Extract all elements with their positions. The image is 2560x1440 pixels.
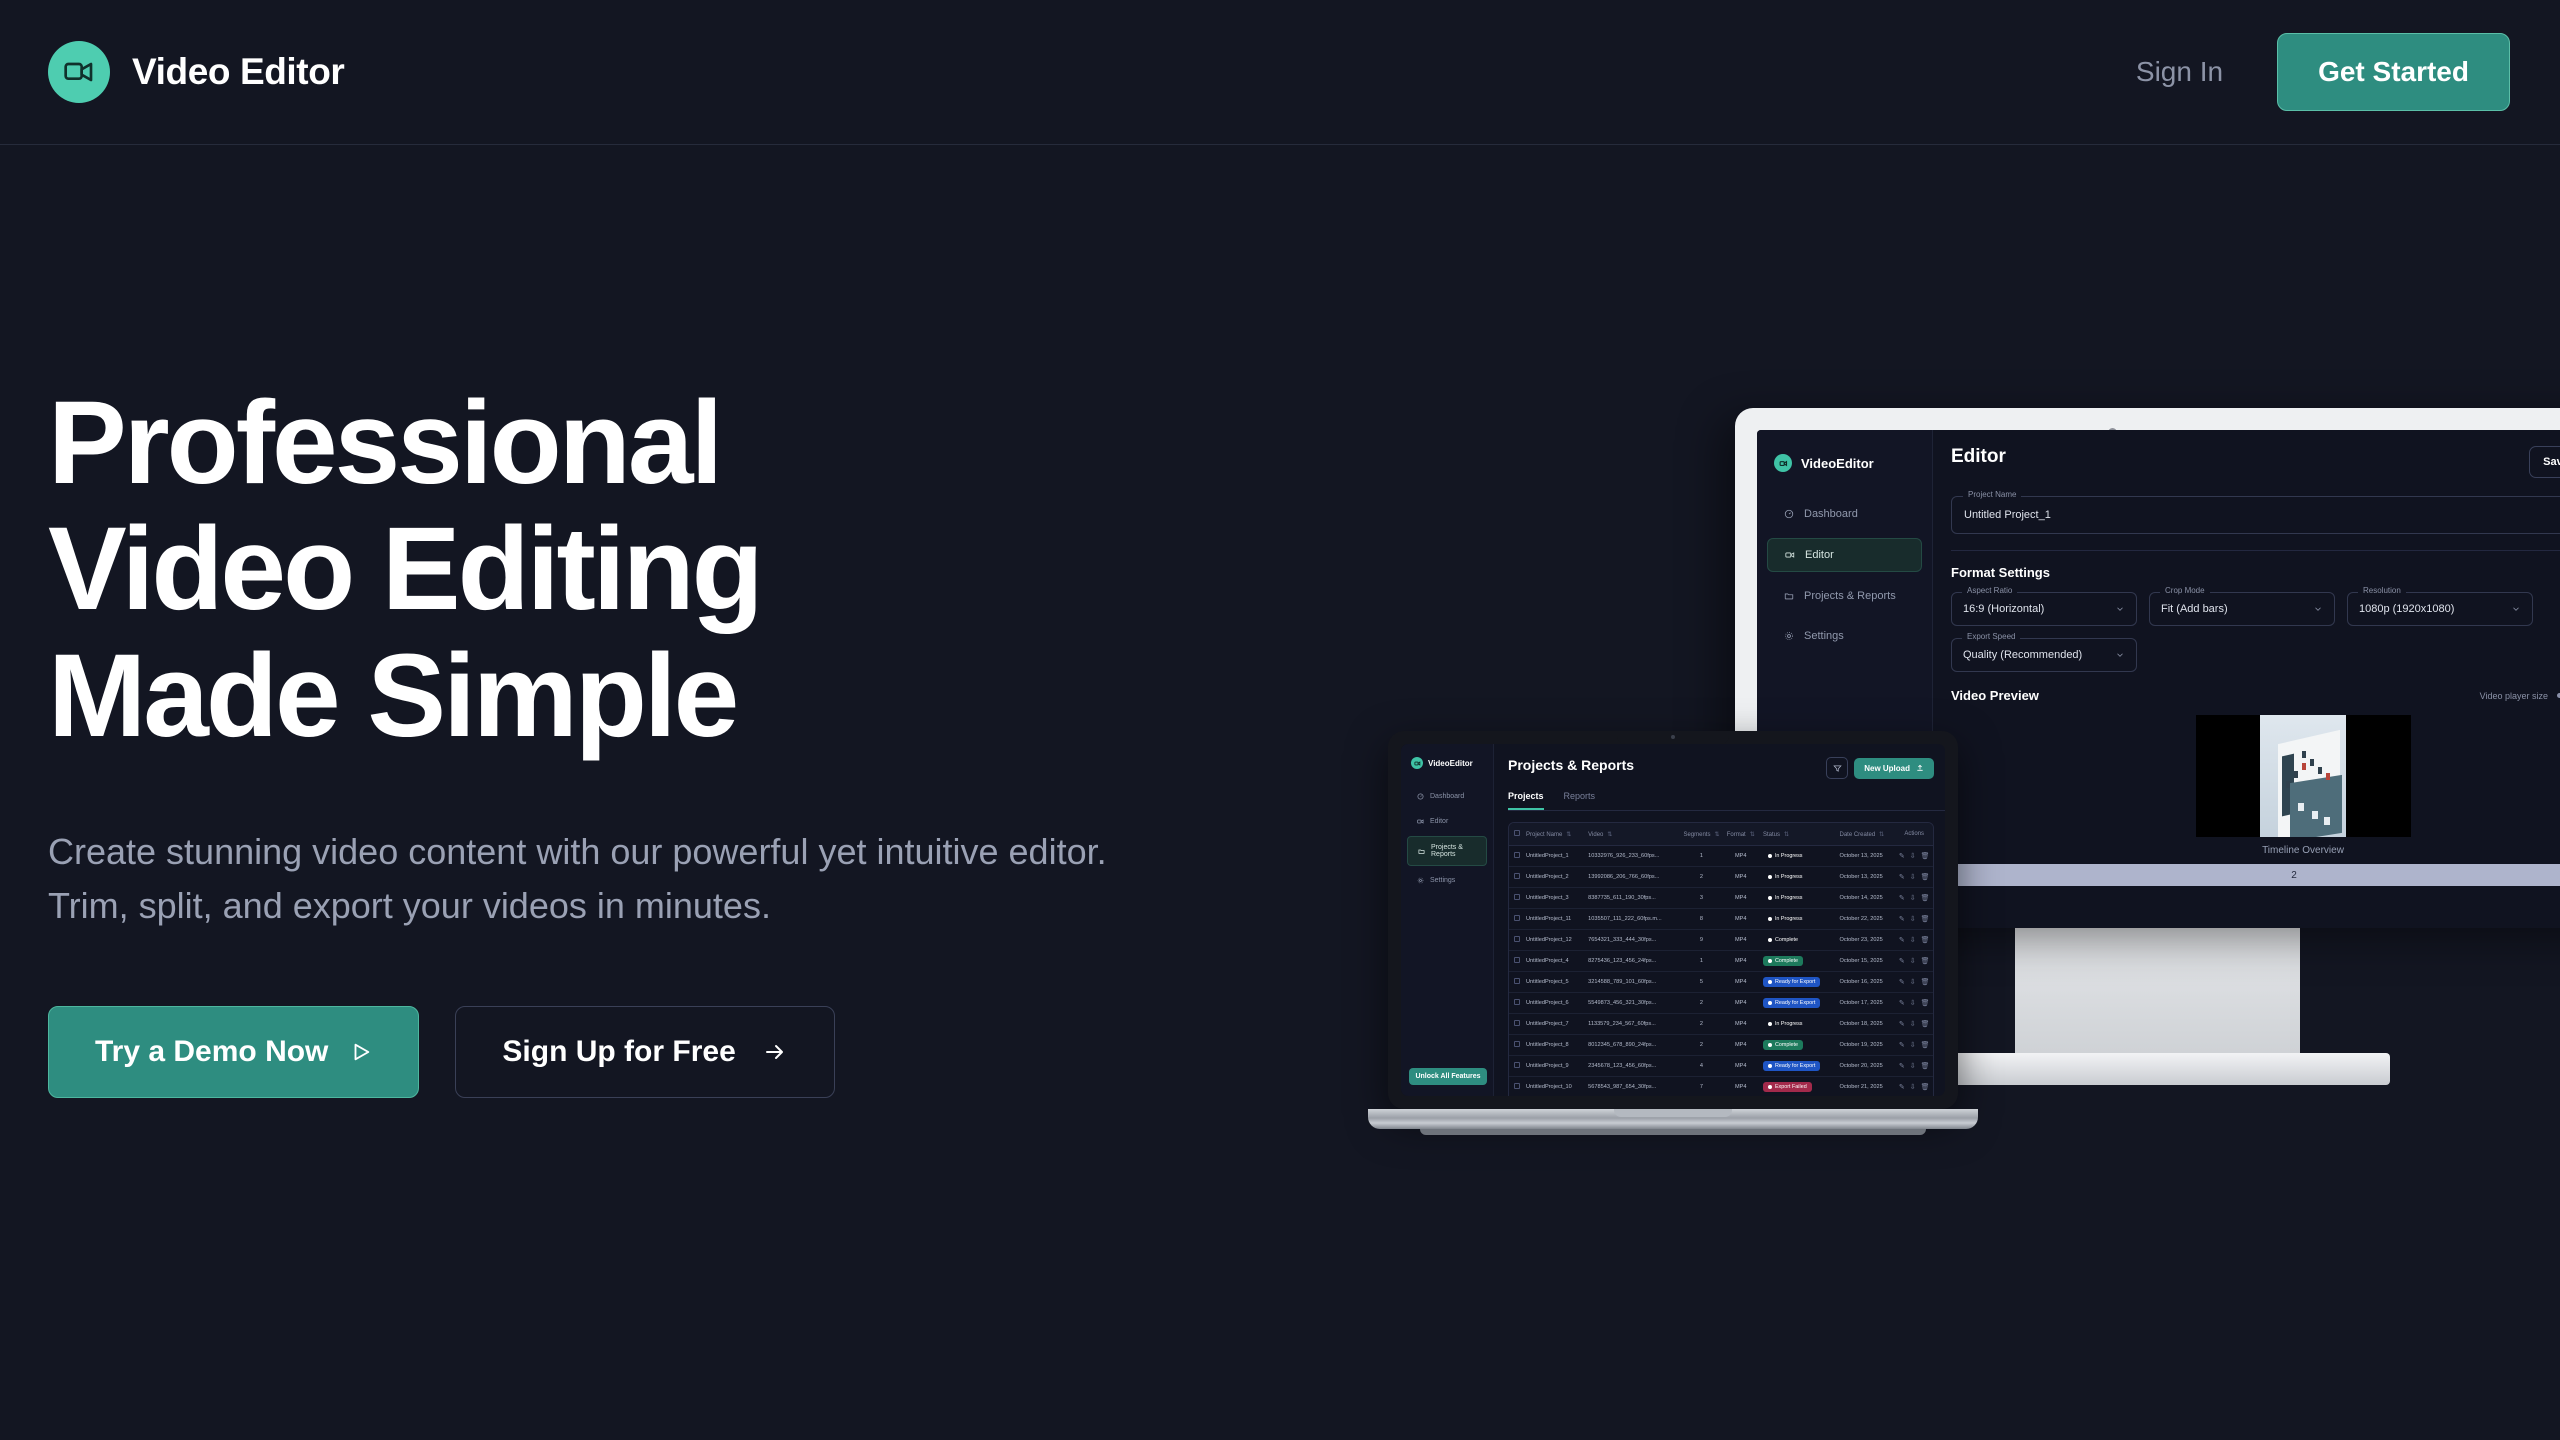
sign-up-free-button[interactable]: Sign Up for Free xyxy=(455,1006,834,1098)
status-dot-icon xyxy=(1768,1085,1772,1089)
unlock-all-features-button[interactable]: Unlock All Features xyxy=(1409,1068,1487,1085)
sidebar-label: Dashboard xyxy=(1430,793,1464,800)
hero-section: Professional Video Editing Made Simple C… xyxy=(48,380,1198,1098)
cell-actions: ✎⇩🗑 xyxy=(1895,1014,1933,1035)
export-speed-value: Quality (Recommended) xyxy=(1963,649,2082,661)
checkbox-icon[interactable] xyxy=(1514,830,1520,836)
status-dot-icon xyxy=(1768,1064,1772,1068)
download-icon[interactable]: ⇩ xyxy=(1910,957,1916,965)
new-upload-label: New Upload xyxy=(1864,764,1910,773)
col-status[interactable]: Status⇅ xyxy=(1758,823,1835,846)
save-label: Save xyxy=(2543,456,2560,468)
col-select-all[interactable] xyxy=(1509,823,1521,846)
new-upload-button[interactable]: New Upload xyxy=(1854,758,1934,779)
status-label: Complete xyxy=(1775,958,1798,964)
sidebar-item-editor[interactable]: Editor xyxy=(1767,538,1922,572)
hero-title-line-1: Professional xyxy=(48,380,1198,506)
header-actions: Sign In Get Started xyxy=(2136,33,2510,111)
sidebar-label: Editor xyxy=(1430,818,1448,825)
row-checkbox-cell[interactable] xyxy=(1509,951,1521,972)
status-label: In Progress xyxy=(1775,853,1803,859)
cell-status: Ready for Export xyxy=(1758,1056,1835,1077)
download-icon[interactable]: ⇩ xyxy=(1910,999,1916,1007)
cell-project-name: UntitledProject_7 xyxy=(1521,1014,1583,1035)
divider xyxy=(1951,550,2560,551)
col-format[interactable]: Format⇅ xyxy=(1724,823,1758,846)
status-dot-icon xyxy=(1768,896,1772,900)
status-badge: In Progress xyxy=(1763,893,1808,903)
project-name-value: Untitled Project_1 xyxy=(1964,509,2051,521)
status-dot-icon xyxy=(1768,917,1772,921)
cell-format: MP4 xyxy=(1724,909,1758,930)
table-row[interactable]: UntitledProject_110332976_926_233_60fps.… xyxy=(1509,846,1933,867)
status-label: Complete xyxy=(1775,937,1798,943)
cell-status: Export Failed xyxy=(1758,1077,1835,1097)
cell-video: 10332976_926_233_60fps... xyxy=(1583,846,1679,867)
crop-mode-label: Crop Mode xyxy=(2160,586,2210,595)
format-settings-title: Format Settings xyxy=(1951,565,2560,580)
video-icon xyxy=(1417,818,1424,825)
cell-segments: 1 xyxy=(1679,846,1723,867)
chevron-down-icon xyxy=(2511,604,2521,614)
timeline-overview-label: Timeline Overview xyxy=(2262,845,2344,856)
status-badge: In Progress xyxy=(1763,872,1808,882)
video-preview-stage: Timeline Overview 2 xyxy=(1951,715,2560,886)
download-icon[interactable]: ⇩ xyxy=(1910,1083,1916,1091)
status-label: Ready for Export xyxy=(1775,1063,1815,1069)
try-demo-label: Try a Demo Now xyxy=(95,1035,328,1069)
export-speed-label: Export Speed xyxy=(1962,632,2020,641)
delete-icon[interactable]: 🗑 xyxy=(1921,873,1930,881)
table-row[interactable]: UntitledProject_105678543_987_654_30fps.… xyxy=(1509,1077,1933,1097)
cell-format: MP4 xyxy=(1724,930,1758,951)
cell-segments: 2 xyxy=(1679,1035,1723,1056)
cell-format: MP4 xyxy=(1724,1035,1758,1056)
cell-video: 8012345_678_890_24fps... xyxy=(1583,1035,1679,1056)
cell-format: MP4 xyxy=(1724,993,1758,1014)
cell-date-created: October 18, 2025 xyxy=(1834,1014,1895,1035)
cell-project-name: UntitledProject_1 xyxy=(1521,846,1583,867)
cell-project-name: UntitledProject_8 xyxy=(1521,1035,1583,1056)
cell-format: MP4 xyxy=(1724,888,1758,909)
row-checkbox-cell[interactable] xyxy=(1509,1056,1521,1077)
edit-icon[interactable]: ✎ xyxy=(1899,1083,1905,1091)
cell-segments: 1 xyxy=(1679,951,1723,972)
col-label: Status xyxy=(1763,832,1780,838)
site-header: Video Editor Sign In Get Started xyxy=(0,0,2560,145)
cell-date-created: October 13, 2025 xyxy=(1834,867,1895,888)
project-name-field[interactable]: Project Name Untitled Project_1 xyxy=(1951,496,2560,534)
edit-icon[interactable]: ✎ xyxy=(1899,957,1905,965)
status-label: In Progress xyxy=(1775,874,1803,880)
cell-status: Complete xyxy=(1758,951,1835,972)
checkbox-icon[interactable] xyxy=(1514,873,1520,879)
row-checkbox-cell[interactable] xyxy=(1509,888,1521,909)
table-row[interactable]: UntitledProject_92345678_123_456_60fps..… xyxy=(1509,1056,1933,1077)
cell-project-name: UntitledProject_11 xyxy=(1521,909,1583,930)
video-frame-image xyxy=(2260,715,2346,837)
project-name-label: Project Name xyxy=(1963,490,2021,499)
col-label: Actions xyxy=(1904,831,1924,837)
table-row[interactable]: UntitledProject_65549873_456_321_30fps..… xyxy=(1509,993,1933,1014)
delete-icon[interactable]: 🗑 xyxy=(1921,957,1930,965)
sidebar-item-projects-reports[interactable]: Projects & Reports xyxy=(1407,836,1487,866)
download-icon[interactable]: ⇩ xyxy=(1910,1020,1916,1028)
status-label: Ready for Export xyxy=(1775,979,1815,985)
cell-status: In Progress xyxy=(1758,909,1835,930)
video-camera-icon xyxy=(1411,757,1423,769)
projects-table-wrapper: Project Name⇅ Video⇅ Segments⇅ Format⇅ S… xyxy=(1508,822,1934,1096)
status-label: In Progress xyxy=(1775,1021,1803,1027)
status-dot-icon xyxy=(1768,1022,1772,1026)
brand-logo-group[interactable]: Video Editor xyxy=(48,41,344,103)
laptop-brand-label: VideoEditor xyxy=(1428,759,1473,768)
cell-actions: ✎⇩🗑 xyxy=(1895,951,1933,972)
cell-status: In Progress xyxy=(1758,846,1835,867)
edit-icon[interactable]: ✎ xyxy=(1899,999,1905,1007)
export-speed-select[interactable]: Export Speed Quality (Recommended) xyxy=(1951,638,2137,672)
edit-icon[interactable]: ✎ xyxy=(1899,915,1905,923)
cell-date-created: October 19, 2025 xyxy=(1834,1035,1895,1056)
gear-icon xyxy=(1784,631,1794,641)
save-button[interactable]: Save xyxy=(2529,446,2560,478)
status-badge: Export Failed xyxy=(1763,1082,1812,1092)
video-preview-title: Video Preview xyxy=(1951,688,2039,703)
video-player-size-label: Video player size xyxy=(2480,691,2548,701)
edit-icon[interactable]: ✎ xyxy=(1899,978,1905,986)
aspect-ratio-select[interactable]: Aspect Ratio 16:9 (Horizontal) xyxy=(1951,592,2137,626)
laptop-page-title: Projects & Reports xyxy=(1508,757,1634,773)
sort-icon[interactable]: ⇅ xyxy=(1879,831,1884,838)
monitor-app-brand: VideoEditor xyxy=(1757,446,1932,472)
laptop-screen: VideoEditor Dashboard Editor xyxy=(1401,744,1945,1096)
delete-icon[interactable]: 🗑 xyxy=(1921,1020,1930,1028)
sidebar-item-dashboard[interactable]: Dashboard xyxy=(1407,786,1487,807)
page-title: Professional Video Editing Made Simple xyxy=(48,380,1198,759)
crop-mode-value: Fit (Add bars) xyxy=(2161,603,2228,615)
status-dot-icon xyxy=(1768,980,1772,984)
edit-icon[interactable]: ✎ xyxy=(1899,1020,1905,1028)
status-label: Complete xyxy=(1775,1042,1798,1048)
delete-icon[interactable]: 🗑 xyxy=(1921,936,1930,944)
download-icon[interactable]: ⇩ xyxy=(1910,894,1916,902)
cell-format: MP4 xyxy=(1724,951,1758,972)
delete-icon[interactable]: 🗑 xyxy=(1921,852,1930,860)
cell-format: MP4 xyxy=(1724,846,1758,867)
table-row[interactable]: UntitledProject_111035507_111_222_60fps.… xyxy=(1509,909,1933,930)
monitor-page-title: Editor xyxy=(1951,446,2006,468)
gear-icon xyxy=(1417,877,1424,884)
format-settings-controls: Aspect Ratio 16:9 (Horizontal) Crop Mode… xyxy=(1951,592,2560,672)
hero-title-line-3: Made Simple xyxy=(48,633,1198,759)
checkbox-icon[interactable] xyxy=(1514,1041,1520,1047)
video-player-size-control[interactable]: Video player size xyxy=(2480,691,2560,701)
sidebar-item-settings[interactable]: Settings xyxy=(1407,870,1487,891)
table-row[interactable]: UntitledProject_53214588_789_101_60fps..… xyxy=(1509,972,1933,993)
cell-video: 1133579_234_567_60fps... xyxy=(1583,1014,1679,1035)
laptop-tabs: Projects Reports xyxy=(1508,791,1945,811)
checkbox-icon[interactable] xyxy=(1514,852,1520,858)
status-label: Export Failed xyxy=(1775,1084,1807,1090)
status-dot-icon xyxy=(1768,938,1772,942)
window xyxy=(2326,773,2330,780)
table-row[interactable]: UntitledProject_48275436_123_456_24fps..… xyxy=(1509,951,1933,972)
window xyxy=(2310,759,2314,766)
edit-icon[interactable]: ✎ xyxy=(1899,873,1905,881)
sidebar-label: Editor xyxy=(1805,549,1834,561)
video-player[interactable] xyxy=(2196,715,2411,837)
edit-icon[interactable]: ✎ xyxy=(1899,1041,1905,1049)
edit-icon[interactable]: ✎ xyxy=(1899,894,1905,902)
laptop-sidebar: VideoEditor Dashboard Editor xyxy=(1401,744,1494,1096)
checkbox-icon[interactable] xyxy=(1514,1062,1520,1068)
cell-actions: ✎⇩🗑 xyxy=(1895,993,1933,1014)
cell-project-name: UntitledProject_5 xyxy=(1521,972,1583,993)
cell-actions: ✎⇩🗑 xyxy=(1895,846,1933,867)
play-triangle-icon xyxy=(350,1040,372,1064)
col-actions: Actions xyxy=(1895,823,1933,846)
laptop-app-brand: VideoEditor xyxy=(1401,757,1493,769)
col-label: Segments xyxy=(1683,832,1710,838)
laptop-toolbar-buttons: New Upload xyxy=(1826,757,1934,779)
cell-segments: 2 xyxy=(1679,993,1723,1014)
laptop-toolbar: Projects & Reports New Upload xyxy=(1508,757,1945,779)
arrow-right-icon xyxy=(762,1040,788,1064)
col-video[interactable]: Video⇅ xyxy=(1583,823,1679,846)
gauge-icon xyxy=(1417,793,1424,800)
col-date-created[interactable]: Date Created⇅ xyxy=(1834,823,1895,846)
checkbox-icon[interactable] xyxy=(1514,978,1520,984)
delete-icon[interactable]: 🗑 xyxy=(1921,1062,1930,1070)
delete-icon[interactable]: 🗑 xyxy=(1921,999,1930,1007)
row-checkbox-cell[interactable] xyxy=(1509,930,1521,951)
edit-icon[interactable]: ✎ xyxy=(1899,852,1905,860)
monitor-stand-foot xyxy=(1925,1053,2390,1085)
cell-status: In Progress xyxy=(1758,1014,1835,1035)
cell-date-created: October 16, 2025 xyxy=(1834,972,1895,993)
cell-video: 8387735_611_190_30fps... xyxy=(1583,888,1679,909)
monitor-brand-label: VideoEditor xyxy=(1801,456,1874,471)
page-indicator: 2 xyxy=(1933,864,2560,886)
cell-date-created: October 23, 2025 xyxy=(1834,930,1895,951)
table-row[interactable]: UntitledProject_38387735_611_190_30fps..… xyxy=(1509,888,1933,909)
cell-date-created: October 22, 2025 xyxy=(1834,909,1895,930)
folder-icon xyxy=(1784,591,1794,601)
window xyxy=(2318,767,2322,774)
download-icon[interactable]: ⇩ xyxy=(1910,1062,1916,1070)
tab-projects[interactable]: Projects xyxy=(1508,791,1544,810)
monitor-nav: Dashboard Editor Projects & Reports Sett… xyxy=(1757,498,1932,652)
cell-status: Complete xyxy=(1758,930,1835,951)
laptop-base-notch xyxy=(1614,1109,1732,1117)
delete-icon[interactable]: 🗑 xyxy=(1921,915,1930,923)
webcam-dot-icon xyxy=(1671,735,1675,739)
laptop-lid: VideoEditor Dashboard Editor xyxy=(1388,731,1958,1109)
col-label: Video xyxy=(1588,832,1603,838)
col-segments[interactable]: Segments⇅ xyxy=(1679,823,1723,846)
status-badge: Complete xyxy=(1763,935,1803,945)
cell-segments: 5 xyxy=(1679,972,1723,993)
row-checkbox-cell[interactable] xyxy=(1509,1077,1521,1097)
cell-segments: 8 xyxy=(1679,909,1723,930)
checkbox-icon[interactable] xyxy=(1514,957,1520,963)
brand-name: Video Editor xyxy=(132,51,344,93)
cell-format: MP4 xyxy=(1724,1077,1758,1097)
laptop-mockup: VideoEditor Dashboard Editor xyxy=(1368,731,1978,1151)
cell-video: 5549873_456_321_30fps... xyxy=(1583,993,1679,1014)
status-label: Ready for Export xyxy=(1775,1000,1815,1006)
row-checkbox-cell[interactable] xyxy=(1509,846,1521,867)
monitor-toolbar: Editor Save Exp xyxy=(1951,446,2560,478)
filter-icon xyxy=(1833,764,1842,773)
cell-project-name: UntitledProject_4 xyxy=(1521,951,1583,972)
sign-in-link[interactable]: Sign In xyxy=(2136,56,2223,88)
filter-button[interactable] xyxy=(1826,757,1848,779)
laptop-nav: Dashboard Editor Projects & Reports xyxy=(1401,786,1493,891)
row-checkbox-cell[interactable] xyxy=(1509,1035,1521,1056)
cell-date-created: October 17, 2025 xyxy=(1834,993,1895,1014)
table-head: Project Name⇅ Video⇅ Segments⇅ Format⇅ S… xyxy=(1509,823,1933,846)
monitor-main-panel: Editor Save Exp Project Name Untitled Pr… xyxy=(1933,430,2560,928)
edit-icon[interactable]: ✎ xyxy=(1899,936,1905,944)
status-dot-icon xyxy=(1768,1001,1772,1005)
window xyxy=(2302,751,2306,758)
delete-icon[interactable]: 🗑 xyxy=(1921,978,1930,986)
resolution-select[interactable]: Resolution 1080p (1920x1080) xyxy=(2347,592,2533,626)
sidebar-item-settings[interactable]: Settings xyxy=(1767,620,1922,652)
window xyxy=(2286,781,2290,788)
sidebar-item-projects-reports[interactable]: Projects & Reports xyxy=(1767,580,1922,612)
col-project-name[interactable]: Project Name⇅ xyxy=(1521,823,1583,846)
checkbox-icon[interactable] xyxy=(1514,999,1520,1005)
projects-table: Project Name⇅ Video⇅ Segments⇅ Format⇅ S… xyxy=(1509,823,1933,1096)
laptop-front-edge xyxy=(1420,1129,1926,1135)
window xyxy=(2312,811,2318,819)
sort-icon[interactable]: ⇅ xyxy=(1714,831,1719,838)
sign-up-label: Sign Up for Free xyxy=(502,1035,735,1069)
cell-status: In Progress xyxy=(1758,867,1835,888)
cell-actions: ✎⇩🗑 xyxy=(1895,1077,1933,1097)
delete-icon[interactable]: 🗑 xyxy=(1921,894,1930,902)
cell-date-created: October 21, 2025 xyxy=(1834,1077,1895,1097)
folder-icon xyxy=(1418,848,1425,855)
try-demo-button[interactable]: Try a Demo Now xyxy=(48,1006,419,1098)
status-dot-icon xyxy=(1768,875,1772,879)
table-row[interactable]: UntitledProject_71133579_234_567_60fps..… xyxy=(1509,1014,1933,1035)
cell-actions: ✎⇩🗑 xyxy=(1895,888,1933,909)
checkbox-icon[interactable] xyxy=(1514,894,1520,900)
sidebar-label: Projects & Reports xyxy=(1804,590,1896,602)
checkbox-icon[interactable] xyxy=(1514,1083,1520,1089)
crop-mode-select[interactable]: Crop Mode Fit (Add bars) xyxy=(2149,592,2335,626)
checkbox-icon[interactable] xyxy=(1514,1020,1520,1026)
cell-status: Ready for Export xyxy=(1758,993,1835,1014)
cell-date-created: October 14, 2025 xyxy=(1834,888,1895,909)
download-icon[interactable]: ⇩ xyxy=(1910,915,1916,923)
cell-video: 3214588_789_101_60fps... xyxy=(1583,972,1679,993)
sidebar-item-dashboard[interactable]: Dashboard xyxy=(1767,498,1922,530)
download-icon[interactable]: ⇩ xyxy=(1910,1041,1916,1049)
table-row[interactable]: UntitledProject_88012345_678_890_24fps..… xyxy=(1509,1035,1933,1056)
sidebar-item-editor[interactable]: Editor xyxy=(1407,811,1487,832)
status-dot-icon xyxy=(1768,959,1772,963)
table-row[interactable]: UntitledProject_213992086_206_766_60fps.… xyxy=(1509,867,1933,888)
cell-video: 8275436_123_456_24fps... xyxy=(1583,951,1679,972)
row-checkbox-cell[interactable] xyxy=(1509,972,1521,993)
download-icon[interactable]: ⇩ xyxy=(1910,978,1916,986)
window xyxy=(2298,803,2304,811)
cell-format: MP4 xyxy=(1724,1056,1758,1077)
download-icon[interactable]: ⇩ xyxy=(1910,852,1916,860)
sort-icon[interactable]: ⇅ xyxy=(1750,831,1755,838)
laptop-main-panel: Projects & Reports New Upload xyxy=(1494,744,1945,1096)
sidebar-label: Dashboard xyxy=(1804,508,1858,520)
status-badge: Complete xyxy=(1763,1040,1803,1050)
sidebar-label: Projects & Reports xyxy=(1431,844,1486,858)
checkbox-icon[interactable] xyxy=(1514,915,1520,921)
aspect-ratio-label: Aspect Ratio xyxy=(1962,586,2017,595)
aspect-ratio-value: 16:9 (Horizontal) xyxy=(1963,603,2044,615)
landing-page: Video Editor Sign In Get Started Profess… xyxy=(0,0,2560,1440)
edit-icon[interactable]: ✎ xyxy=(1899,1062,1905,1070)
video-camera-icon xyxy=(1774,454,1792,472)
table-row[interactable]: UntitledProject_127654321_333_444_30fps.… xyxy=(1509,930,1933,951)
sort-icon[interactable]: ⇅ xyxy=(1607,831,1612,838)
cell-project-name: UntitledProject_6 xyxy=(1521,993,1583,1014)
cell-actions: ✎⇩🗑 xyxy=(1895,930,1933,951)
sort-icon[interactable]: ⇅ xyxy=(1566,831,1571,838)
row-checkbox-cell[interactable] xyxy=(1509,867,1521,888)
cell-project-name: UntitledProject_2 xyxy=(1521,867,1583,888)
delete-icon[interactable]: 🗑 xyxy=(1921,1083,1930,1091)
checkbox-icon[interactable] xyxy=(1514,936,1520,942)
cell-actions: ✎⇩🗑 xyxy=(1895,909,1933,930)
cell-actions: ✎⇩🗑 xyxy=(1895,1056,1933,1077)
hero-title-line-2: Video Editing xyxy=(48,506,1198,632)
cell-segments: 4 xyxy=(1679,1056,1723,1077)
cell-project-name: UntitledProject_12 xyxy=(1521,930,1583,951)
resolution-value: 1080p (1920x1080) xyxy=(2359,603,2454,615)
row-checkbox-cell[interactable] xyxy=(1509,1014,1521,1035)
row-checkbox-cell[interactable] xyxy=(1509,909,1521,930)
window xyxy=(2302,763,2306,770)
row-checkbox-cell[interactable] xyxy=(1509,993,1521,1014)
cell-date-created: October 13, 2025 xyxy=(1834,846,1895,867)
download-icon[interactable]: ⇩ xyxy=(1910,873,1916,881)
delete-icon[interactable]: 🗑 xyxy=(1921,1041,1930,1049)
status-badge: In Progress xyxy=(1763,914,1808,924)
hero-cta-group: Try a Demo Now Sign Up for Free xyxy=(48,1006,1198,1098)
cell-format: MP4 xyxy=(1724,972,1758,993)
status-badge: Ready for Export xyxy=(1763,998,1820,1008)
get-started-button[interactable]: Get Started xyxy=(2277,33,2510,111)
tab-reports[interactable]: Reports xyxy=(1564,791,1596,810)
table-body: UntitledProject_110332976_926_233_60fps.… xyxy=(1509,846,1933,1097)
status-badge: In Progress xyxy=(1763,1019,1808,1029)
download-icon[interactable]: ⇩ xyxy=(1910,936,1916,944)
video-camera-icon xyxy=(48,41,110,103)
monitor-stand-neck xyxy=(2015,928,2300,1053)
status-label: In Progress xyxy=(1775,916,1803,922)
col-label: Format xyxy=(1727,832,1746,838)
status-dot-icon xyxy=(1768,1043,1772,1047)
hero-subtitle: Create stunning video content with our p… xyxy=(48,825,1118,934)
chevron-down-icon xyxy=(2115,650,2125,660)
sort-icon[interactable]: ⇅ xyxy=(1784,831,1789,838)
cell-actions: ✎⇩🗑 xyxy=(1895,867,1933,888)
cell-segments: 2 xyxy=(1679,1014,1723,1035)
cell-project-name: UntitledProject_9 xyxy=(1521,1056,1583,1077)
